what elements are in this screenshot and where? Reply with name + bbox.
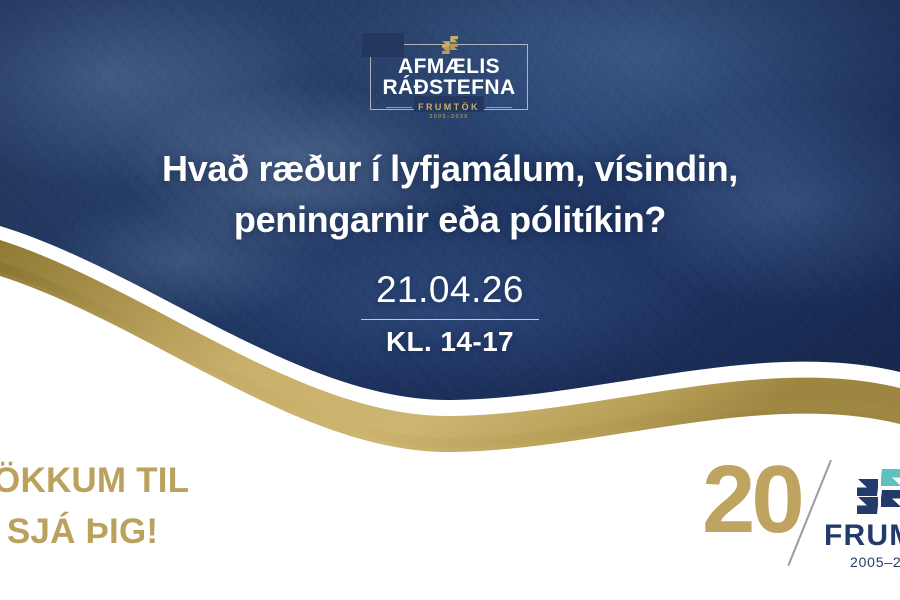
- frumtok-mark-icon: [852, 466, 900, 516]
- event-date-block: 21.04.26 KL. 14-17: [310, 270, 590, 357]
- headline-line2: peningarnir eða pólitíkin?: [60, 194, 840, 245]
- logo-title: AFMÆLIS RÁÐSTEFNA: [370, 56, 528, 98]
- anniversary-number: 20: [702, 452, 801, 548]
- date-divider: [361, 319, 539, 320]
- event-time: KL. 14-17: [310, 327, 590, 357]
- conference-logo-lockup: AFMÆLIS RÁÐSTEFNA FRUMTÖK 2005–2025: [370, 34, 530, 120]
- logo-brand-row: FRUMTÖK: [370, 102, 528, 112]
- frumtok-emblem-icon: [437, 34, 463, 56]
- cta-line2: AÐ SJÁ ÞIG!: [0, 506, 276, 557]
- frumtok-wordmark: FRUMTÖK: [824, 520, 900, 552]
- headline-line1: Hvað ræður í lyfjamálum, vísindin,: [162, 148, 738, 189]
- logo-brand-rule-left: [386, 107, 412, 108]
- logo-brand-rule-right: [486, 107, 512, 108]
- logo-emblem-backdrop: [362, 33, 404, 57]
- logo-title-line1: AFMÆLIS: [398, 55, 500, 78]
- headline: Hvað ræður í lyfjamálum, vísindin, penin…: [60, 143, 840, 245]
- event-poster: AFMÆLIS RÁÐSTEFNA FRUMTÖK 2005–2025 Hvað…: [0, 0, 900, 600]
- anniversary-lockup: 20 FRUMTÖK 2005–2025: [702, 452, 900, 587]
- call-to-action-text: HLÖKKUM TIL AÐ SJÁ ÞIG!: [0, 455, 276, 557]
- cta-line1: HLÖKKUM TIL: [0, 461, 189, 500]
- frumtok-wordmark-years: 2005–2025: [850, 554, 900, 570]
- logo-brand-name: FRUMTÖK: [418, 102, 480, 112]
- logo-title-line2: RÁÐSTEFNA: [370, 77, 528, 98]
- event-date: 21.04.26: [310, 270, 590, 310]
- logo-brand-years: 2005–2025: [370, 114, 528, 120]
